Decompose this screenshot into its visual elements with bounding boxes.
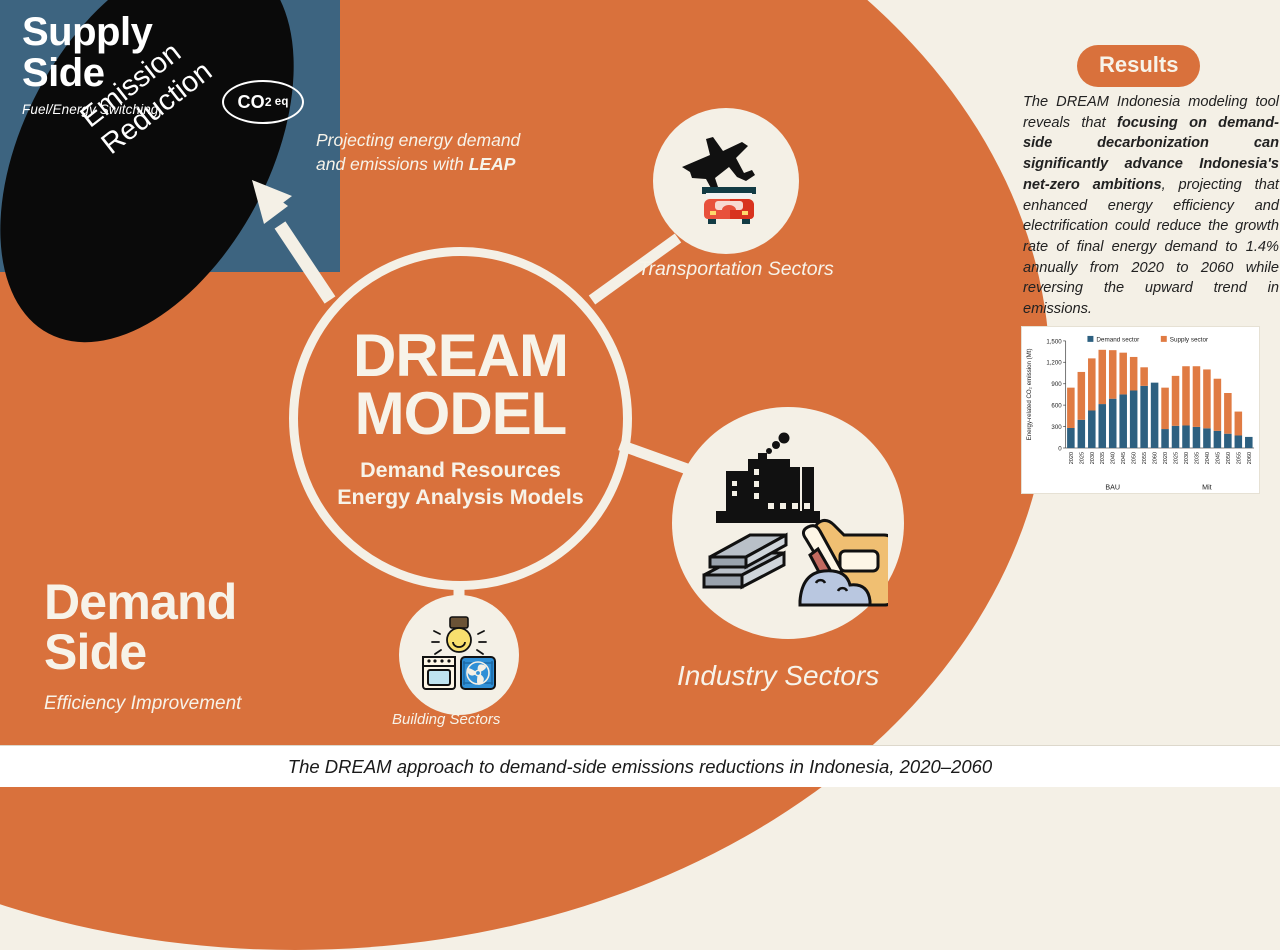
svg-text:600: 600 <box>1051 403 1062 410</box>
svg-text:2050: 2050 <box>1226 452 1232 464</box>
cement-bag-shovel-icon <box>800 520 888 605</box>
lightbulb-icon <box>432 617 486 654</box>
svg-text:Supply sector: Supply sector <box>1170 336 1208 343</box>
airplane-icon <box>682 137 755 190</box>
svg-text:Energy-related CO₂ emission (M: Energy-related CO₂ emission (Mt) <box>1026 348 1033 440</box>
svg-text:2025: 2025 <box>1079 452 1085 464</box>
svg-text:2055: 2055 <box>1236 452 1242 464</box>
demand-side-block: Demand Side Efficiency Improvement <box>44 577 241 715</box>
industry-sector-bubble[interactable] <box>672 407 904 639</box>
oven-icon <box>423 657 455 689</box>
results-seg3: , projecting that enhanced energy effici… <box>1023 177 1279 317</box>
transportation-sector-label: Transportation Sectors <box>638 258 834 281</box>
svg-text:2040: 2040 <box>1205 452 1211 464</box>
svg-text:Demand sector: Demand sector <box>1096 336 1139 343</box>
svg-text:900: 900 <box>1051 381 1062 388</box>
dream-model-circle: DREAM MODEL Demand Resources Energy Anal… <box>289 247 632 590</box>
factory-icon <box>716 433 820 524</box>
svg-text:2035: 2035 <box>1194 452 1200 464</box>
svg-text:2045: 2045 <box>1215 452 1221 464</box>
figure-caption-bar: The DREAM approach to demand-side emissi… <box>0 745 1280 787</box>
svg-text:300: 300 <box>1051 424 1062 431</box>
co2-eq-badge: CO2eq <box>222 80 304 124</box>
building-sector-label: Building Sectors <box>392 711 500 728</box>
emissions-stacked-bar-chart: 03006009001,2001,500Energy-related CO₂ e… <box>1022 327 1259 494</box>
figure-caption: The DREAM approach to demand-side emissi… <box>288 756 992 778</box>
svg-text:2040: 2040 <box>1111 452 1117 464</box>
steel-beams-icon <box>704 535 786 587</box>
supply-side-title-line1: Supply <box>22 12 158 53</box>
dream-subtitle-line1: Demand Resources <box>337 457 584 483</box>
svg-text:0: 0 <box>1058 445 1062 452</box>
co2-badge-eq: eq <box>275 96 289 108</box>
svg-text:Mit: Mit <box>1202 484 1212 492</box>
svg-text:2045: 2045 <box>1121 452 1127 464</box>
results-badge: Results <box>1077 45 1200 87</box>
svg-text:2030: 2030 <box>1184 452 1190 464</box>
car-icon <box>702 187 756 224</box>
svg-text:2055: 2055 <box>1142 452 1148 464</box>
projecting-note-leap: LEAP <box>469 154 516 174</box>
dream-title-line1: DREAM <box>353 327 568 385</box>
svg-text:2020: 2020 <box>1069 452 1075 464</box>
air-conditioner-fan-icon <box>461 657 495 689</box>
svg-text:2035: 2035 <box>1100 452 1106 464</box>
building-sector-bubble[interactable] <box>399 595 519 715</box>
demand-side-title-line2: Side <box>44 627 241 677</box>
svg-text:1,200: 1,200 <box>1046 360 1062 367</box>
svg-text:2025: 2025 <box>1174 452 1180 464</box>
projecting-note: Projecting energy demand and emissions w… <box>316 128 546 176</box>
demand-side-title-line1: Demand <box>44 577 241 627</box>
svg-text:1,500: 1,500 <box>1046 338 1062 345</box>
transportation-sector-bubble[interactable] <box>653 108 799 254</box>
dream-title-line2: MODEL <box>355 385 567 443</box>
industry-sector-label: Industry Sectors <box>677 660 879 692</box>
svg-text:2020: 2020 <box>1163 452 1169 464</box>
dream-subtitle-line2: Energy Analysis Models <box>337 484 584 510</box>
co2-badge-sub: 2 <box>265 95 272 109</box>
svg-text:2050: 2050 <box>1132 452 1138 464</box>
demand-side-subtitle: Efficiency Improvement <box>44 693 241 715</box>
results-paragraph: The DREAM Indonesia modeling tool reveal… <box>1023 92 1279 320</box>
svg-text:2060: 2060 <box>1247 452 1253 464</box>
co2-badge-text: CO <box>237 92 264 113</box>
svg-text:2030: 2030 <box>1090 452 1096 464</box>
svg-text:BAU: BAU <box>1105 484 1120 492</box>
emissions-chart-card[interactable]: 03006009001,2001,500Energy-related CO₂ e… <box>1021 326 1260 494</box>
infographic-root: Supply Side Fuel/Energy Switching Emissi… <box>0 0 1280 787</box>
svg-text:2060: 2060 <box>1153 452 1159 464</box>
